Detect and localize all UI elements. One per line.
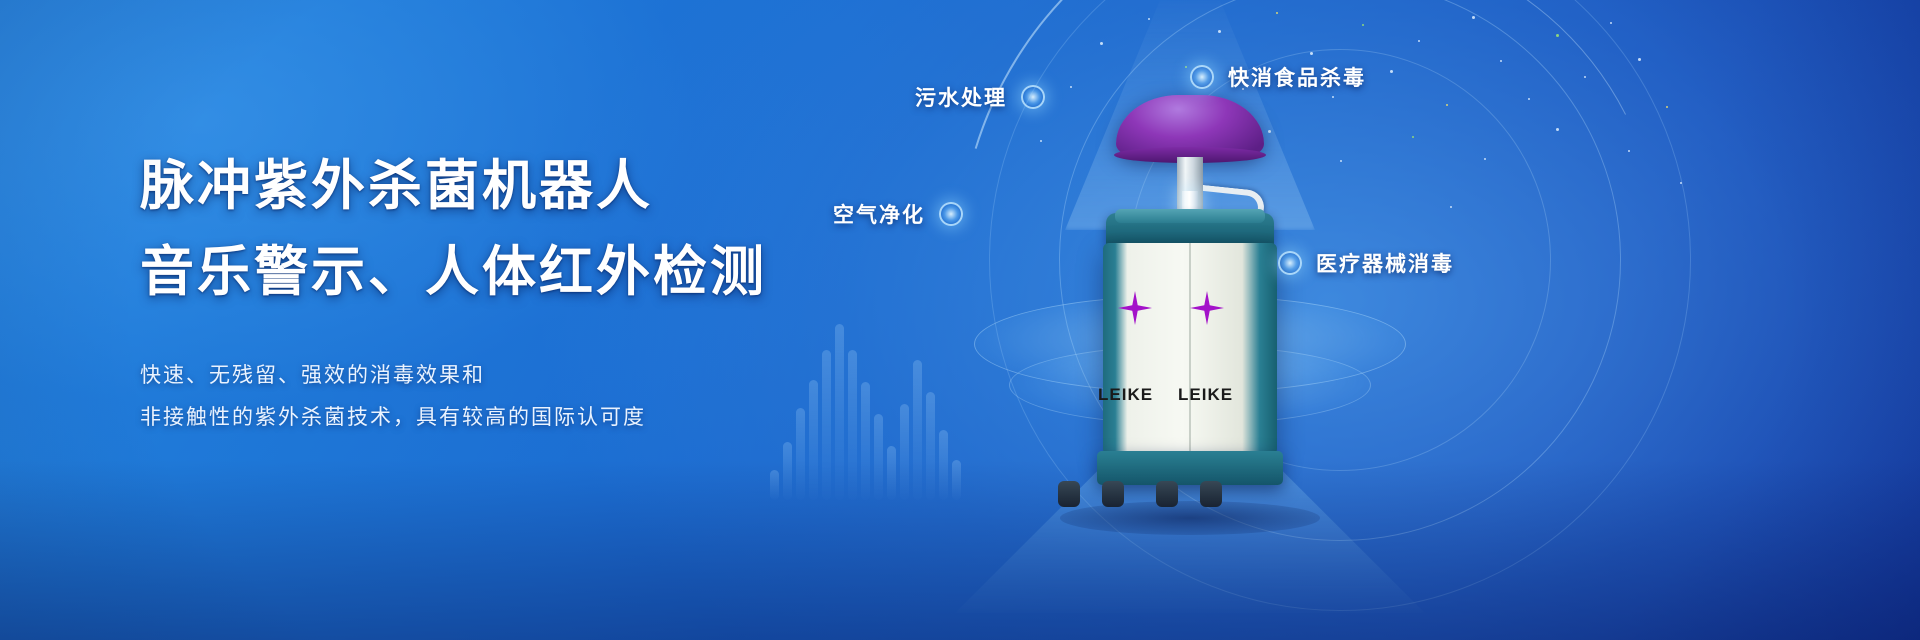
sparkle-dot [1070,86,1072,88]
robot-wheel [1058,481,1080,507]
robot-base [1097,451,1283,485]
feature-label-fmcg-food-sterilization: 快消食品杀毒 [1190,62,1366,92]
sparkle-dot [1556,128,1559,131]
feature-label-medical-device-disinfection: 医疗器械消毒 [1278,248,1454,278]
feature-text: 医疗器械消毒 [1316,248,1454,278]
robot-wheel [1102,481,1124,507]
hero-banner: LEIKE LEIKE 污水处理 快消食品杀毒 空气净化 医疗器械消毒 脉冲紫外… [0,0,1920,640]
sparkle-dot [1472,16,1475,19]
sparkle-dot [1390,70,1393,73]
node-dot-icon [1278,251,1302,275]
sparkle-dot [1610,22,1612,24]
page-subtitle-heading: 音乐警示、人体红外检测 [140,236,900,308]
description-line-1: 快速、无残留、强效的消毒效果和 [140,354,900,396]
uv-disinfection-robot-illustration: LEIKE LEIKE [1030,95,1350,535]
sparkle-dot [1450,206,1452,208]
node-dot-icon [1021,85,1045,109]
feature-label-wastewater-treatment: 污水处理 [915,82,1045,112]
robot-ground-shadow [1060,501,1320,535]
robot-wheel [1200,481,1222,507]
feature-text: 污水处理 [915,82,1007,112]
robot-wheel [1156,481,1178,507]
sparkle-dot [1584,76,1586,78]
sparkle-dot [1310,52,1313,55]
sparkle-dot [1446,104,1448,106]
product-brand-label: LEIKE [1098,385,1153,405]
sparkle-dot [1628,150,1630,152]
sparkle-dot [1100,42,1103,45]
page-title: 脉冲紫外杀菌机器人 [140,150,900,222]
sparkle-dot [1276,12,1278,14]
hero-description: 快速、无残留、强效的消毒效果和 非接触性的紫外杀菌技术，具有较高的国际认可度 [140,354,900,438]
sparkle-dot [1666,106,1668,108]
floor-light-beam [955,463,1425,613]
sparkle-dot [1148,18,1150,20]
product-brand-label: LEIKE [1178,385,1233,405]
sparkle-dot [1638,58,1641,61]
hero-text-block: 脉冲紫外杀菌机器人 音乐警示、人体红外检测 快速、无残留、强效的消毒效果和 非接… [140,150,900,438]
sparkle-dot [1528,98,1530,100]
sparkle-dot [1500,60,1502,62]
feature-text: 快消食品杀毒 [1228,62,1366,92]
sparkle-dot [1680,182,1682,184]
sparkle-dot [1484,158,1486,160]
sparkle-dot [1418,40,1420,42]
sparkle-dot [1556,34,1559,37]
robot-body-seam [1189,243,1191,455]
node-dot-icon [1190,65,1214,89]
robot-top-cap-face [1115,209,1265,223]
description-line-2: 非接触性的紫外杀菌技术，具有较高的国际认可度 [140,396,900,438]
sparkle-dot [1412,136,1414,138]
node-dot-icon [939,202,963,226]
sparkle-dot [1362,24,1364,26]
